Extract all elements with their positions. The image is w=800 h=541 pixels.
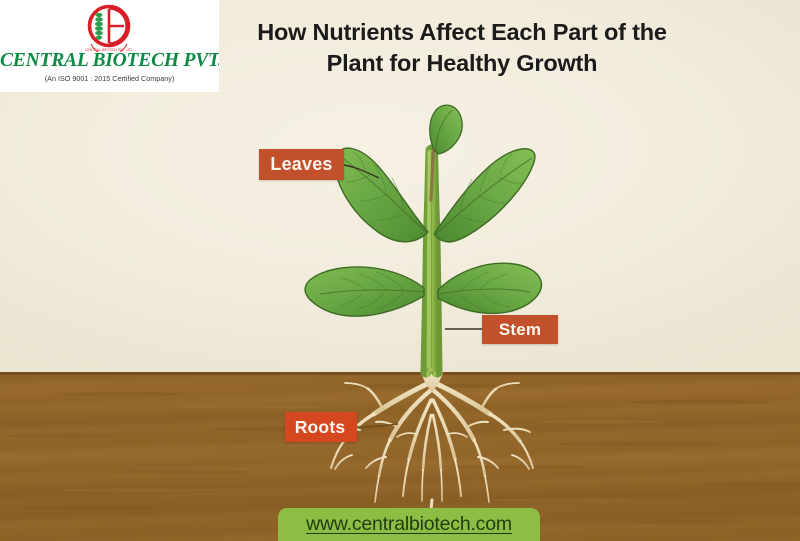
infographic-canvas: CENTRAL BIOTECH PVT. LTD. CENTRAL BIOTEC… (0, 0, 800, 541)
leaf-top-bud (430, 105, 462, 154)
label-stem-text: Stem (499, 320, 541, 340)
leaf-lower-right (438, 263, 542, 313)
page-title: How Nutrients Affect Each Part of the Pl… (236, 17, 688, 79)
label-stem[interactable]: Stem (482, 315, 558, 344)
central-biotech-emblem-icon: CENTRAL BIOTECH PVT. LTD. (82, 4, 136, 52)
plant-stem (426, 132, 437, 372)
label-leaves-text: Leaves (270, 154, 332, 175)
label-leaves[interactable]: Leaves (259, 149, 344, 180)
website-url-band[interactable]: www.centralbiotech.com (278, 508, 540, 541)
label-roots[interactable]: Roots (285, 412, 357, 442)
leaf-upper-left (335, 148, 428, 242)
website-url-text[interactable]: www.centralbiotech.com (306, 513, 512, 536)
connector-roots (357, 424, 398, 427)
iso-certification-text: (An ISO 9001 : 2015 Certified Company) (0, 74, 219, 83)
leaf-lower-left (305, 267, 424, 316)
leaf-upper-right (434, 149, 535, 242)
company-logo-plate[interactable]: CENTRAL BIOTECH PVT. LTD. CENTRAL BIOTEC… (0, 0, 219, 92)
label-roots-text: Roots (295, 417, 346, 438)
plant-roots (331, 372, 533, 520)
company-name: CENTRAL BIOTECH PVT. LTD. (0, 50, 219, 72)
